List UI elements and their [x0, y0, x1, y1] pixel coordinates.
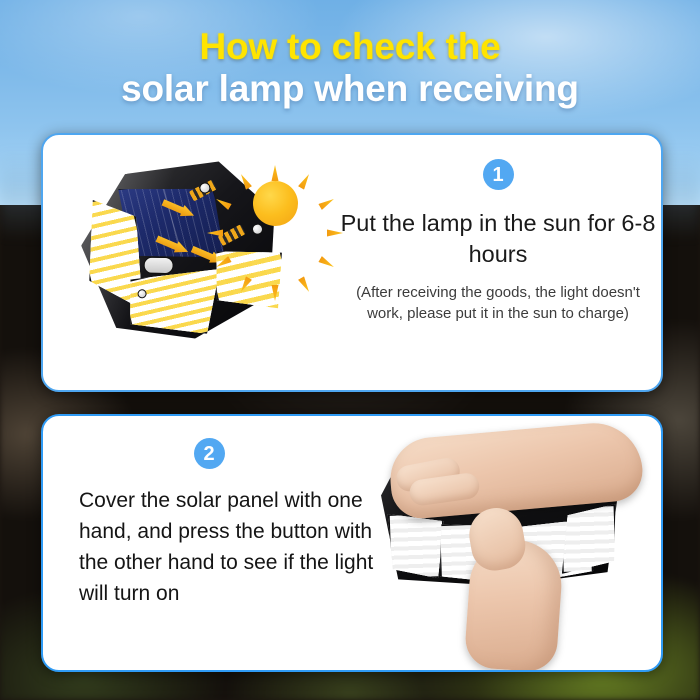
step-2-heading: Cover the solar panel with one hand, and…: [71, 486, 381, 609]
sun-ray: [272, 165, 279, 181]
step-1-heading: Put the lamp in the sun for 6-8 hours: [338, 208, 658, 271]
step-2-text-block: 2 Cover the solar panel with one hand, a…: [71, 438, 381, 609]
motion-sensor-icon: [143, 257, 173, 275]
step-1-card: 1 Put the lamp in the sun for 6-8 hours …: [41, 133, 663, 392]
page-title-line-2: solar lamp when receiving: [0, 70, 700, 107]
step-2-badge-wrap: 2: [71, 438, 347, 469]
step-2-card: 2 Cover the solar panel with one hand, a…: [41, 414, 663, 672]
led-panel-left: [388, 512, 446, 580]
hands-covering-lamp-illustration: [368, 422, 660, 670]
sun-ray: [318, 256, 335, 270]
page-title-line-1: How to check the: [0, 28, 700, 65]
sun-ray: [318, 196, 335, 210]
sun-ray: [298, 172, 312, 189]
sun-ray: [238, 172, 252, 189]
step-2-badge: 2: [194, 438, 225, 469]
sun-ray: [298, 276, 312, 293]
step-1-badge-wrap: 1: [338, 159, 658, 190]
step-1-badge: 1: [483, 159, 514, 190]
sun-core: [253, 181, 298, 226]
solar-lamp-icon: [59, 147, 309, 362]
sun-icon: [229, 157, 321, 249]
step-1-note: (After receiving the goods, the light do…: [338, 282, 658, 325]
page-header: How to check the solar lamp when receivi…: [0, 0, 700, 122]
step-1-text-block: 1 Put the lamp in the sun for 6-8 hours …: [338, 159, 658, 324]
